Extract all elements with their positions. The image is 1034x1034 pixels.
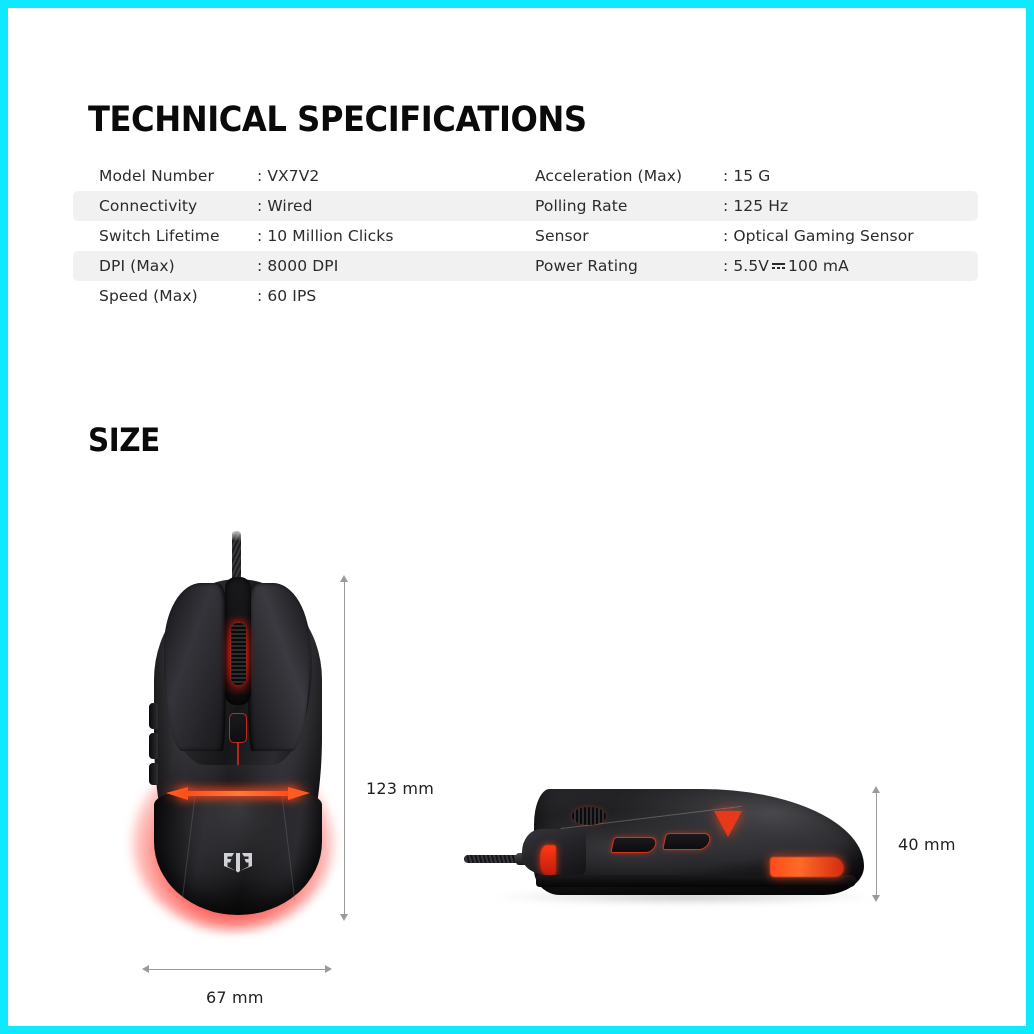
spec-cell-speed-max: Speed (Max) : 60 IPS: [73, 287, 525, 305]
size-diagram: 123 mm 67 mm: [16, 486, 1034, 1026]
spec-value: : 15 G: [723, 167, 977, 185]
side-button-forward: [149, 703, 158, 729]
spec-label: Speed (Max): [99, 287, 257, 305]
fantech-logo-icon: [221, 851, 255, 873]
spec-label: DPI (Max): [99, 257, 257, 275]
spec-cell-model-number: Model Number : VX7V2: [73, 167, 525, 185]
table-row: Connectivity : Wired Polling Rate : 125 …: [73, 191, 978, 221]
spec-label: Polling Rate: [535, 197, 723, 215]
width-dimension-line: [148, 969, 326, 970]
dc-current-icon: [772, 262, 785, 271]
gaming-mouse-top-view-image: 123 mm 67 mm: [128, 531, 358, 931]
spec-cell-sensor: Sensor : Optical Gaming Sensor: [525, 227, 977, 245]
spec-value: : Wired: [257, 197, 525, 215]
right-click-button: [248, 583, 310, 751]
spec-value: : 5.5V100 mA: [723, 257, 977, 275]
height-dimension-line: [876, 793, 877, 895]
height-dimension-label: 40 mm: [898, 835, 956, 854]
scroll-wheel-icon: [231, 623, 246, 685]
spec-value: : Optical Gaming Sensor: [723, 227, 977, 245]
spec-value: : 125 Hz: [723, 197, 977, 215]
rgb-light-strip: [160, 787, 316, 800]
spec-value: : 60 IPS: [257, 287, 525, 305]
spec-label: Acceleration (Max): [535, 167, 723, 185]
table-row: Model Number : VX7V2 Acceleration (Max) …: [73, 161, 978, 191]
spec-value: : 10 Million Clicks: [257, 227, 525, 245]
dpi-button: [229, 713, 247, 743]
light-strip-wing-right: [288, 787, 310, 800]
spec-value: : 8000 DPI: [257, 257, 525, 275]
table-row: Speed (Max) : 60 IPS: [73, 281, 978, 311]
light-strip-bar: [184, 791, 292, 796]
dimension-arrow-up: [872, 786, 880, 793]
width-dimension-label: 67 mm: [206, 988, 264, 1007]
dimension-arrow-down: [340, 914, 348, 921]
side-button-back: [149, 733, 158, 759]
scroll-wheel-icon: [572, 807, 606, 825]
side-button-back: [610, 837, 657, 853]
page-content: TECHNICAL SPECIFICATIONS Model Number : …: [16, 16, 1018, 1018]
dimension-arrow-right: [325, 965, 332, 973]
dpi-accent-line: [237, 743, 239, 765]
spec-cell-dpi-max: DPI (Max) : 8000 DPI: [73, 257, 525, 275]
side-button-extra: [149, 763, 158, 785]
spec-cell-connectivity: Connectivity : Wired: [73, 197, 525, 215]
table-row: Switch Lifetime : 10 Million Clicks Sens…: [73, 221, 978, 251]
spec-label: Model Number: [99, 167, 257, 185]
left-click-button: [164, 583, 226, 751]
top-rgb-triangle-accent: [714, 811, 742, 837]
dimension-arrow-up: [340, 575, 348, 582]
spec-cell-acceleration-max: Acceleration (Max) : 15 G: [525, 167, 977, 185]
page-border: TECHNICAL SPECIFICATIONS Model Number : …: [0, 0, 1034, 1034]
spec-cell-polling-rate: Polling Rate : 125 Hz: [525, 197, 977, 215]
dimension-arrow-left: [142, 965, 149, 973]
power-rating-suffix: 100 mA: [788, 257, 849, 275]
height-dimension-label: 123 mm: [366, 779, 434, 798]
rear-rgb-accent: [770, 857, 844, 877]
gaming-mouse-side-view-image: 40 mm: [464, 771, 884, 931]
table-row: DPI (Max) : 8000 DPI Power Rating : 5.5V…: [73, 251, 978, 281]
spec-label: Connectivity: [99, 197, 257, 215]
specifications-table: Model Number : VX7V2 Acceleration (Max) …: [73, 161, 978, 311]
side-button-forward: [662, 833, 712, 850]
spec-label: Power Rating: [535, 257, 723, 275]
spec-label: Sensor: [535, 227, 723, 245]
cable-fade: [228, 525, 246, 541]
page-title-technical-specifications: TECHNICAL SPECIFICATIONS: [88, 100, 587, 140]
spec-cell-switch-lifetime: Switch Lifetime : 10 Million Clicks: [73, 227, 525, 245]
spec-label: Switch Lifetime: [99, 227, 257, 245]
front-rgb-accent: [540, 845, 556, 875]
spec-cell-power-rating: Power Rating : 5.5V100 mA: [525, 257, 977, 275]
section-title-size: SIZE: [88, 421, 160, 459]
spec-value: : VX7V2: [257, 167, 525, 185]
power-rating-prefix: : 5.5V: [723, 257, 769, 275]
height-dimension-line: [344, 582, 345, 914]
dimension-arrow-down: [872, 895, 880, 902]
